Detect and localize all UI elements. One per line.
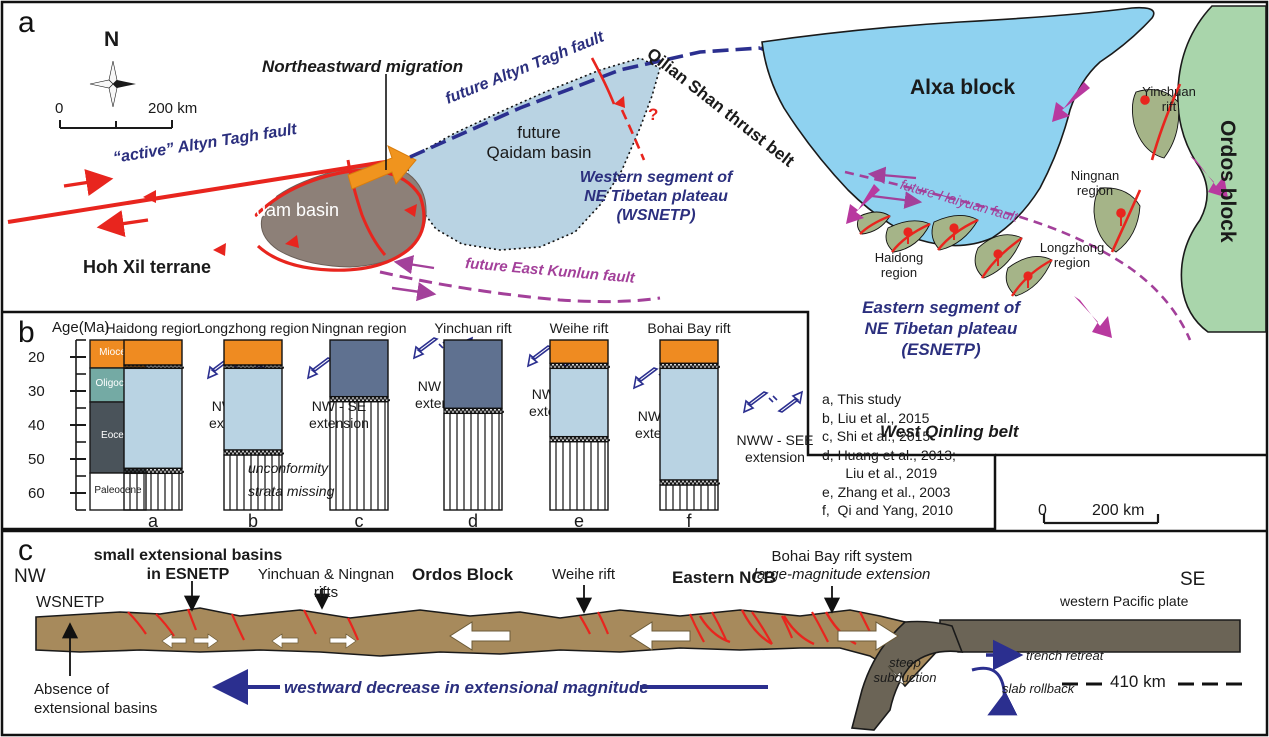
weihe-rift-label: Weihe rift [552,566,615,583]
steep-subduction-label: steep subduction [868,655,942,685]
strat-unit-orange [124,340,182,365]
reference-item-3: d, Huang et al., 2013; [822,446,956,465]
longzhong-region-label: Longzhong region [1036,240,1108,270]
westward-decrease-label: westward decrease in extensional magnitu… [284,678,649,698]
question-mark-label: ? [648,105,658,125]
strat-column-title-f: Bohai Bay rift [632,320,746,336]
orientation-se: SE [1180,569,1205,591]
wsnetp-label: Western segment of NE Tibetan plateau (W… [546,168,766,225]
unconformity-wave [330,398,390,401]
slab-rollback-label: slab rollback [1002,681,1074,696]
figure-root: a N 0 200 km Northeastward migration “ac… [0,0,1269,737]
absence-label: Absence of extensional basins [34,680,157,718]
strat-column-title-d: Yinchuan rift [416,320,530,336]
alxa-block-label: Alxa block [910,76,1015,100]
strat-column-title-b: Longzhong region [196,320,310,336]
reference-item-2: c, Shi et al., 2015 [822,427,956,446]
strat-column-e [548,337,610,513]
scalebar-zero-b: 0 [1038,502,1047,520]
leaf-basin [857,212,890,234]
strat-unit-missing [660,485,718,510]
age-tick-30: 30 [28,383,45,400]
age-tick-60: 60 [28,485,45,502]
strat-column-letter-b: b [224,511,282,532]
strat-column-letter-f: f [660,511,718,532]
strat-unit-orange [550,340,608,363]
esnetp-label: Eastern segment of NE Tibetan plateau (E… [830,297,1052,360]
unconformity-wave [224,451,284,454]
orientation-nw: NW [14,566,46,588]
reference-item-5: e, Zhang et al., 2003 [822,483,956,502]
trench-retreat-label: trench retreat [1026,648,1103,663]
panel-b-letter: b [18,316,35,350]
strat-unit-missing [330,402,388,510]
strat-column-a [122,337,184,513]
north-label: N [104,28,119,52]
strat-unit-orange [224,340,282,365]
reference-item-0: a, This study [822,390,956,409]
northeastward-migration-label: Northeastward migration [262,57,463,77]
ordos-block-label: Ordos block [1215,120,1239,243]
strat-column-c [328,337,390,513]
wsnetp-label-c: WSNETP [36,594,104,612]
strat-column-letter-c: c [330,511,388,532]
strat-unit-missing [550,442,608,510]
unconformity-wave [660,364,720,367]
scalebar-zero-a: 0 [55,100,63,117]
age-tick-50: 50 [28,451,45,468]
extension-label-f: NWW - SEE extension [732,432,818,466]
strat-column-letter-d: d [444,511,502,532]
strat-column-title-a: Haidong region [96,320,210,336]
future-qaidam-basin-label: future Qaidam basin [479,123,599,163]
panel-a-letter: a [18,6,35,40]
yinchuan-rift-label: Yinchuan rift [1140,84,1198,114]
reference-item-4: Liu et al., 2019 [822,464,956,483]
scalebar-max-a: 200 km [148,100,197,117]
strat-unit-missing [444,413,502,510]
hoh-xil-terrane-label: Hoh Xil terrane [83,257,211,278]
strat-column-d [442,337,504,513]
strat-column-b [222,337,284,513]
panel-c-letter: c [18,534,33,568]
strat-unit-missing [124,473,182,510]
unconformity-wave [550,438,610,441]
strat-unit-blue [660,368,718,480]
age-tick-20: 20 [28,349,45,366]
unconformity-wave [660,481,720,484]
scalebar-panel-a [60,120,172,128]
strat-column-letter-e: e [550,511,608,532]
unconformity-wave [550,364,610,367]
strat-unit-slate [330,340,388,397]
strat-unit-orange [660,340,718,363]
unconformity-wave [444,409,504,412]
age-axis [70,340,86,510]
ordos-block-label-c: Ordos Block [412,565,513,585]
extension-arrows-icon-f [742,386,808,432]
unconformity-wave [124,469,184,472]
scalebar-max-b: 200 km [1092,502,1144,520]
age-tick-40: 40 [28,417,45,434]
reference-list: a, This studyb, Liu et al., 2015c, Shi e… [822,390,956,520]
strat-unit-missing [224,455,282,510]
depth-410-label: 410 km [1110,672,1166,692]
strat-column-title-e: Weihe rift [522,320,636,336]
north-arrow-icon [90,61,136,107]
strat-unit-slate [444,340,502,408]
bohai-title-label: Bohai Bay rift system [752,548,932,565]
strat-unit-blue [224,368,282,450]
strat-unit-blue [550,368,608,436]
strat-unit-blue [124,368,182,468]
ningnan-region-label: Ningnan region [1064,168,1126,198]
bohai-subtitle-label: large-magnitude extension [738,566,946,583]
strat-column-title-c: Ningnan region [302,320,416,336]
reference-item-6: f, Qi and Yang, 2010 [822,501,956,520]
western-pacific-plate-label: western Pacific plate [1060,593,1188,609]
strat-column-f [658,337,720,513]
reference-item-1: b, Liu et al., 2015 [822,409,956,428]
yinchuan-ningnan-rifts-label: Yinchuan & Ningnan rifts [250,566,402,602]
qaidam-basin-label: Qaidam basin [228,200,339,221]
haidong-region-label: Haidong region [868,250,930,280]
strat-column-letter-a: a [124,511,182,532]
